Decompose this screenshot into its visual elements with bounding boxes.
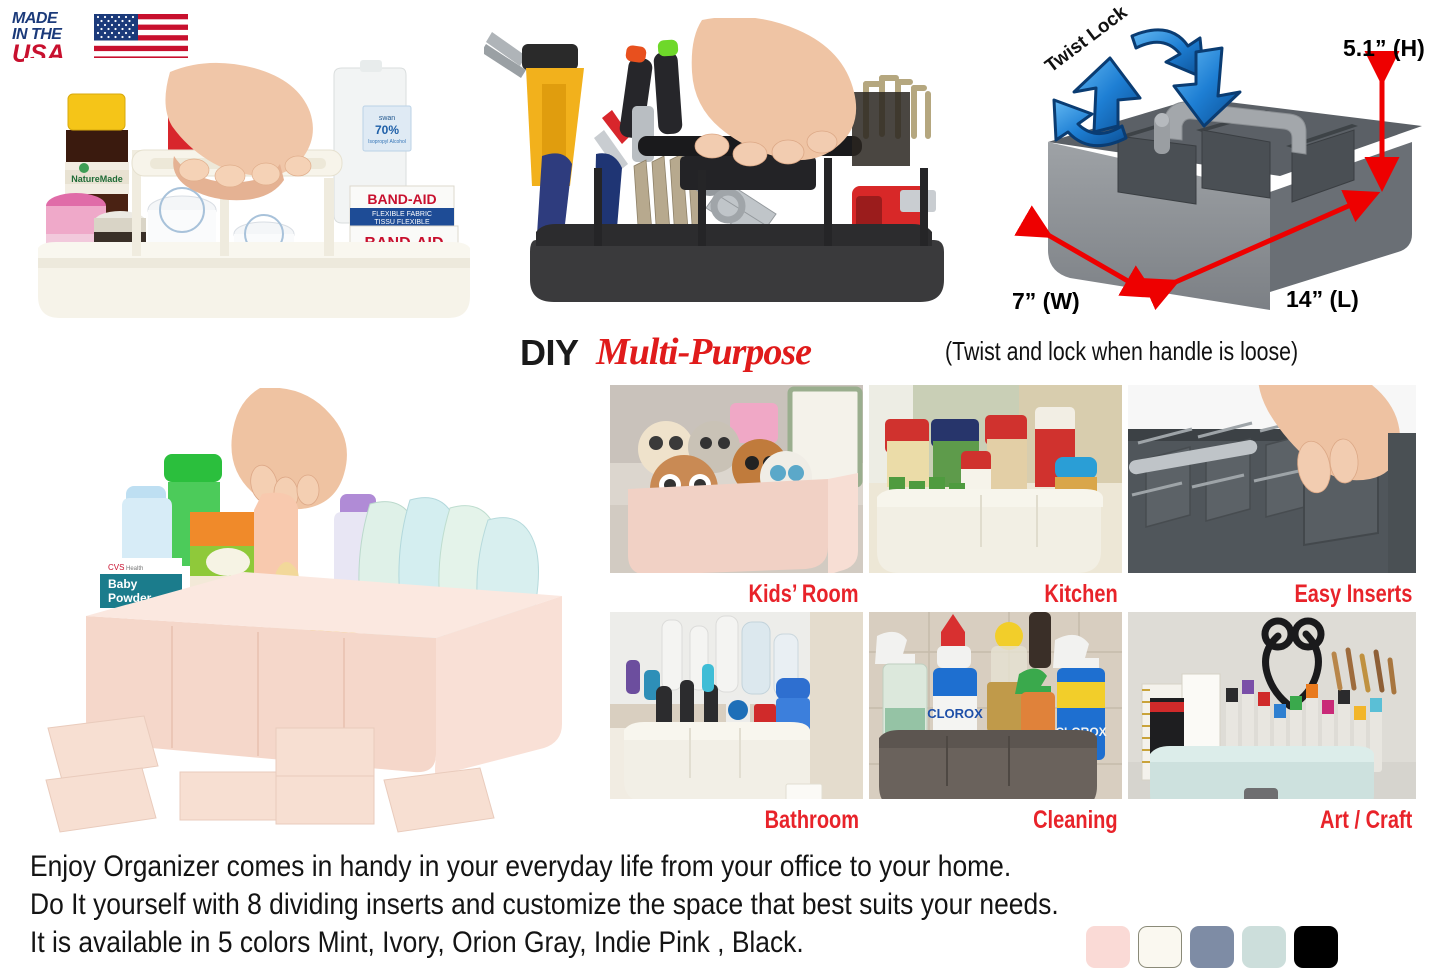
color-swatch-black	[1294, 926, 1338, 968]
use-case-label-kitchen: Kitchen	[1045, 580, 1118, 607]
use-case-bathroom: Bathroom	[610, 612, 863, 834]
color-swatch-orion-gray	[1190, 926, 1234, 968]
footer-line-1: Enjoy Organizer comes in handy in your e…	[30, 848, 1262, 886]
svg-text:swan: swan	[379, 115, 395, 122]
svg-text:Health: Health	[126, 566, 143, 572]
svg-text:FLEXIBLE FABRIC: FLEXIBLE FABRIC	[372, 211, 432, 218]
dimension-height-label: 5.1” (H)	[1343, 35, 1425, 62]
badge-line-1: MADE	[12, 11, 94, 27]
color-swatch-mint	[1242, 926, 1286, 968]
color-swatch-ivory	[1138, 926, 1182, 968]
footer-line-2: Do It yourself with 8 dividing inserts a…	[30, 886, 1262, 924]
use-case-label-bathroom: Bathroom	[765, 806, 859, 833]
hero-photo-first-aid-organizer: swan 70% Isopropyl Alcohol NatureMade	[24, 58, 484, 328]
svg-text:CLOROX: CLOROX	[927, 706, 983, 721]
hero-photo-tool-organizer	[484, 18, 984, 323]
dimension-width-label: 7” (W)	[1012, 288, 1080, 315]
svg-text:70%: 70%	[375, 123, 399, 137]
svg-text:Isopropyl Alcohol: Isopropyl Alcohol	[368, 139, 406, 145]
use-case-art-craft: Art / Craft	[1128, 612, 1416, 834]
use-case-kids-room: Kids’ Room	[610, 385, 863, 607]
use-case-label-easy-inserts: Easy Inserts	[1294, 580, 1412, 607]
color-swatch-row	[1086, 926, 1338, 968]
use-case-cleaning: CLOROX CLOROX Cleaning	[869, 612, 1122, 834]
headline-row: DIY Multi-Purpose (Twist and lock when h…	[520, 332, 1440, 376]
nursery-scene: CVS Health Baby Powder	[22, 388, 587, 833]
use-case-easy-inserts: Easy Inserts	[1128, 385, 1416, 607]
footer-line-3: It is available in 5 colors Mint, Ivory,…	[30, 924, 1262, 962]
infographic-canvas: MADE IN THE USA	[0, 0, 1445, 973]
dimension-diagram: Twist Lock 5.1” (H) 7” (W) 14” (L)	[1000, 10, 1445, 330]
use-case-kitchen: Kitchen	[869, 385, 1122, 607]
svg-text:NatureMade: NatureMade	[71, 174, 123, 184]
dimension-length-label: 14” (L)	[1286, 286, 1359, 313]
tool-scene	[484, 18, 984, 323]
svg-text:BAND-AID: BAND-AID	[367, 191, 436, 207]
first-aid-scene: swan 70% Isopropyl Alcohol NatureMade	[24, 58, 484, 328]
use-case-label-cleaning: Cleaning	[1034, 806, 1118, 833]
svg-text:TISSU FLEXIBLE: TISSU FLEXIBLE	[374, 219, 430, 226]
use-case-label-kids-room: Kids’ Room	[749, 580, 859, 607]
svg-text:Baby: Baby	[108, 577, 138, 591]
multi-purpose-label: Multi-Purpose	[596, 330, 811, 374]
color-swatch-indie-pink	[1086, 926, 1130, 968]
use-case-grid: Kids’ Room	[610, 385, 1440, 833]
twist-lock-note: (Twist and lock when handle is loose)	[945, 336, 1298, 367]
diy-label: DIY	[520, 332, 579, 374]
hero-photo-nursery-organizer: CVS Health Baby Powder	[22, 388, 587, 833]
use-case-label-art-craft: Art / Craft	[1320, 806, 1412, 833]
svg-text:CVS: CVS	[108, 563, 124, 572]
us-flag-icon	[94, 14, 188, 62]
